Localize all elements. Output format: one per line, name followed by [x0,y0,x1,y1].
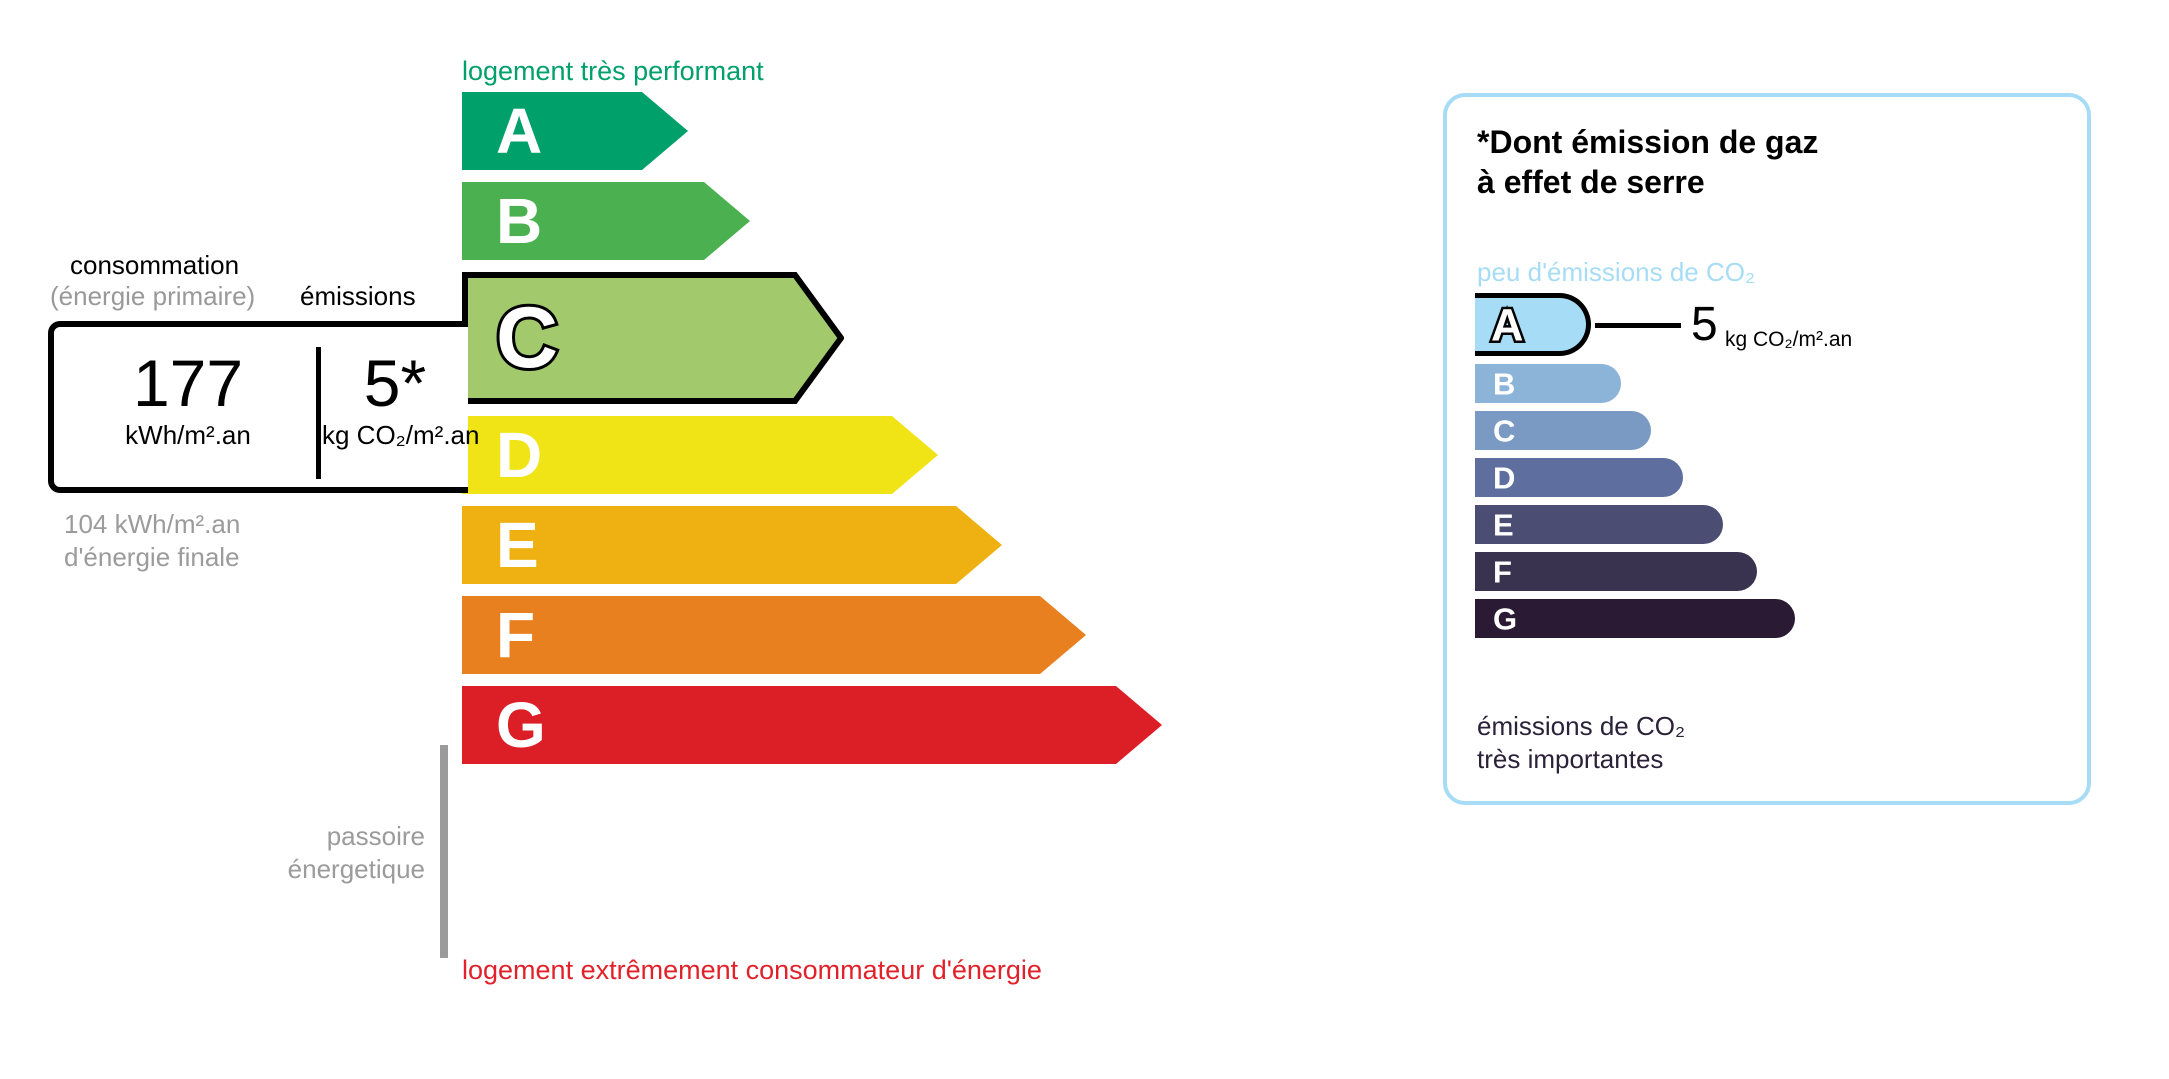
passoire-label: passoire énergetique [180,820,425,887]
co2-bottom-caption-line1: émissions de CO₂ [1477,710,1685,743]
arrow-shape-e [462,506,1002,584]
arrow-body-c [462,272,844,404]
co2-panel-title-line1: *Dont émission de gaz [1477,123,1818,163]
co2-class-letter-g: G [1493,603,1517,634]
arrow-body-f [462,596,1086,674]
energy-class-arrow-b: B [462,182,750,260]
co2-class-bar-f: F [1475,552,1757,591]
consumption-header-label: consommation [70,250,239,281]
emission-value: 5* [322,349,468,418]
co2-class-letter-e: E [1493,509,1514,540]
emissions-header-label: émissions [300,281,416,312]
arrow-body-a [462,92,688,170]
scale-bottom-caption: logement extrêmement consommateur d'éner… [462,955,1042,986]
consumption-header-sublabel: (énergie primaire) [50,281,255,312]
co2-callout-unit: kg CO₂/m².an [1725,329,1852,350]
co2-class-bar-e: E [1475,505,1723,544]
co2-panel-title-line2: à effet de serre [1477,163,1818,203]
final-energy-note: 104 kWh/m².an d'énergie finale [64,508,240,575]
dpe-diagram: logement très performant ABCDEFG logemen… [0,0,2169,1079]
arrow-shape-d [462,416,938,494]
energy-class-arrow-a: A [462,92,688,170]
arrow-body-e [462,506,1002,584]
final-energy-value: 104 kWh/m².an [64,508,240,541]
passoire-label-line1: passoire [180,820,425,853]
arrow-shape-f [462,596,1086,674]
value-box: 177 kWh/m².an 5* kg CO₂/m².an [48,321,468,493]
co2-callout-value: 5 [1691,301,1718,349]
energy-class-arrow-f: F [462,596,1086,674]
co2-class-letter-c: C [1493,415,1515,446]
consumption-unit: kWh/m².an [64,420,312,451]
arrow-shape-c [462,272,844,404]
arrow-shape-b [462,182,750,260]
arrow-shape-g [462,686,1162,764]
emission-cell: 5* kg CO₂/m².an [322,349,468,451]
co2-panel: *Dont émission de gaz à effet de serre p… [1443,93,2091,805]
co2-class-letter-a: A [1491,302,1524,347]
arrow-body-d [462,416,938,494]
energy-class-arrow-c: C [462,272,844,404]
consumption-value: 177 [64,349,312,418]
arrow-shape-a [462,92,688,170]
co2-class-bar-g: G [1475,599,1795,638]
passoire-label-line2: énergetique [180,853,425,886]
final-energy-label: d'énergie finale [64,541,240,574]
arrow-body-g [462,686,1162,764]
passoire-bracket [440,745,448,958]
co2-bottom-caption-line2: très importantes [1477,743,1685,776]
co2-bottom-caption: émissions de CO₂ très importantes [1477,710,1685,776]
co2-class-bar-b: B [1475,364,1621,403]
co2-class-bar-d: D [1475,458,1683,497]
co2-class-letter-f: F [1493,556,1512,587]
co2-class-bar-c: C [1475,411,1651,450]
arrow-body-b [462,182,750,260]
scale-top-caption: logement très performant [462,56,764,87]
energy-class-arrow-g: G [462,686,1162,764]
emission-unit: kg CO₂/m².an [322,420,468,451]
co2-class-letter-d: D [1493,462,1515,493]
co2-callout-leader-line [1595,323,1681,328]
co2-top-caption: peu d'émissions de CO₂ [1477,257,1755,288]
value-box-divider [316,347,321,479]
consumption-cell: 177 kWh/m².an [64,349,312,451]
co2-class-letter-b: B [1493,368,1515,399]
energy-class-arrow-e: E [462,506,1002,584]
energy-class-arrow-d: D [462,416,938,494]
co2-class-bar-a: A [1475,293,1591,356]
co2-panel-title: *Dont émission de gaz à effet de serre [1477,123,1818,202]
